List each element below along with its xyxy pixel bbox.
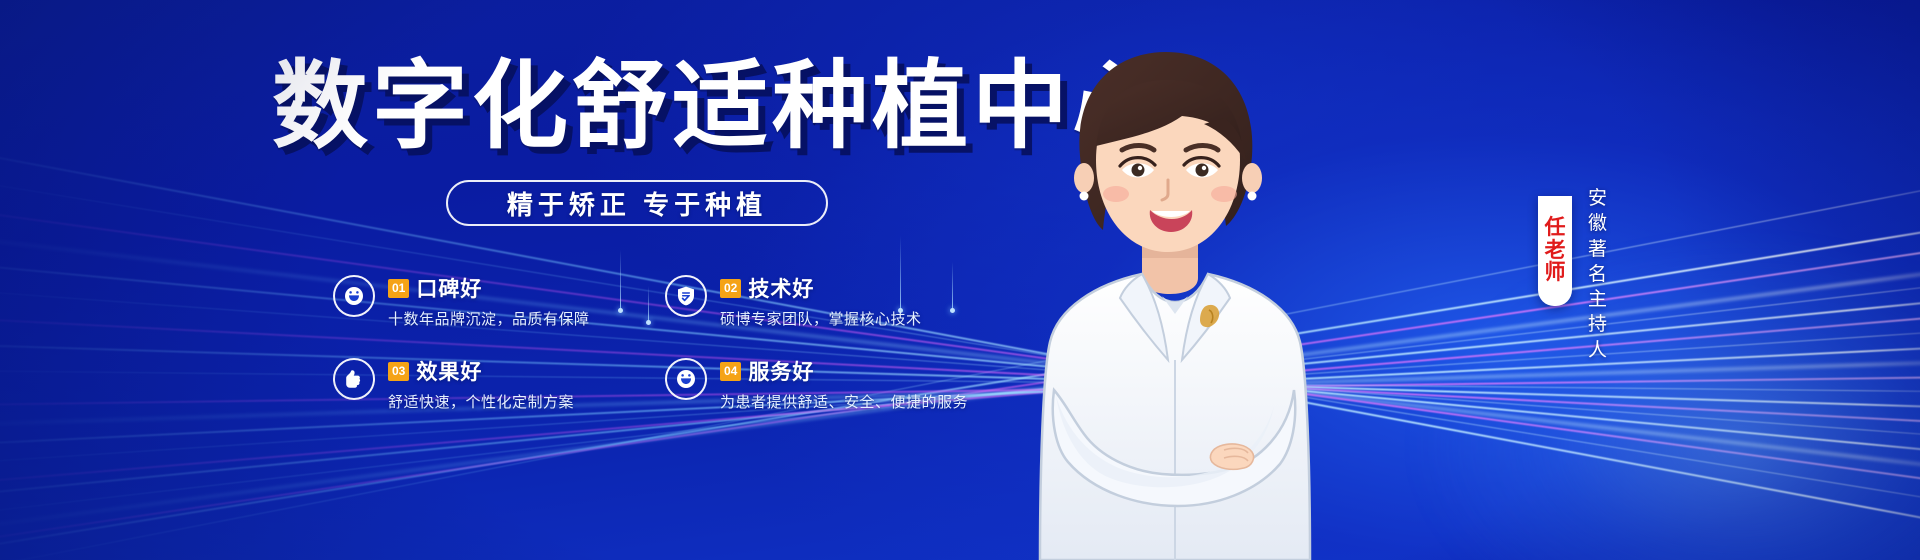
credential-char: 人	[1583, 338, 1613, 363]
presenter-name-char: 任	[1545, 217, 1566, 239]
presenter-credential: 安 徽 著 名 主 持 人	[1583, 186, 1613, 363]
feature-title: 口碑好	[416, 273, 482, 303]
feature-text: 02 技术好 硕博专家团队，掌握核心技术	[720, 272, 922, 329]
presenter-name-char: 师	[1545, 262, 1566, 284]
feature-item[interactable]: 01 口碑好 十数年品牌沉淀，品质有保障	[333, 272, 638, 329]
feature-row-bottom: 03 效果好 舒适快速，个性化定制方案	[333, 355, 993, 412]
credential-char: 安	[1583, 186, 1613, 211]
feature-number-badge: 04	[720, 362, 741, 381]
feature-description: 舒适快速，个性化定制方案	[388, 391, 574, 412]
credential-char: 徽	[1583, 211, 1613, 236]
feature-title: 效果好	[416, 356, 482, 386]
right-glow	[1420, 246, 1920, 560]
feature-list: 01 口碑好 十数年品牌沉淀，品质有保障	[333, 272, 993, 438]
dental-center-banner: 数字化舒适种植中心 精于矫正 专于种植 01 口碑好	[0, 0, 1920, 560]
thumbs-up-icon	[333, 358, 375, 400]
banner-subtitle-text: 精于矫正 专于种植	[507, 185, 767, 222]
feature-description: 十数年品牌沉淀，品质有保障	[388, 308, 590, 329]
credential-char: 持	[1583, 312, 1613, 337]
feature-text: 01 口碑好 十数年品牌沉淀，品质有保障	[388, 272, 590, 329]
banner-subtitle-pill: 精于矫正 专于种植	[446, 180, 828, 226]
credential-char: 主	[1583, 287, 1613, 312]
feature-description: 为患者提供舒适、安全、便捷的服务	[720, 391, 968, 412]
feature-item[interactable]: 03 效果好 舒适快速，个性化定制方案	[333, 355, 638, 412]
feature-number-badge: 03	[388, 362, 409, 381]
shield-check-icon	[665, 275, 707, 317]
feature-heading: 03 效果好	[388, 356, 574, 386]
feature-number-badge: 02	[720, 279, 741, 298]
smile-face-icon	[333, 275, 375, 317]
feature-heading: 01 口碑好	[388, 273, 590, 303]
feature-text: 03 效果好 舒适快速，个性化定制方案	[388, 355, 574, 412]
smile-face-icon	[665, 358, 707, 400]
feature-title: 服务好	[748, 356, 814, 386]
feature-number-badge: 01	[388, 279, 409, 298]
feature-item[interactable]: 02 技术好 硕博专家团队，掌握核心技术	[665, 272, 970, 329]
presenter-name-tag: 任 老 师	[1538, 196, 1572, 306]
credential-char: 著	[1583, 237, 1613, 262]
presenter-name-char: 老	[1545, 240, 1566, 262]
feature-heading: 04 服务好	[720, 356, 968, 386]
feature-title: 技术好	[748, 273, 814, 303]
feature-item[interactable]: 04 服务好 为患者提供舒适、安全、便捷的服务	[665, 355, 970, 412]
credential-char: 名	[1583, 262, 1613, 287]
feature-text: 04 服务好 为患者提供舒适、安全、便捷的服务	[720, 355, 968, 412]
presenter-illustration	[1010, 38, 1340, 560]
banner-title: 数字化舒适种植中心	[272, 58, 1002, 156]
feature-row-top: 01 口碑好 十数年品牌沉淀，品质有保障	[333, 272, 993, 329]
feature-heading: 02 技术好	[720, 273, 922, 303]
feature-description: 硕博专家团队，掌握核心技术	[720, 308, 922, 329]
